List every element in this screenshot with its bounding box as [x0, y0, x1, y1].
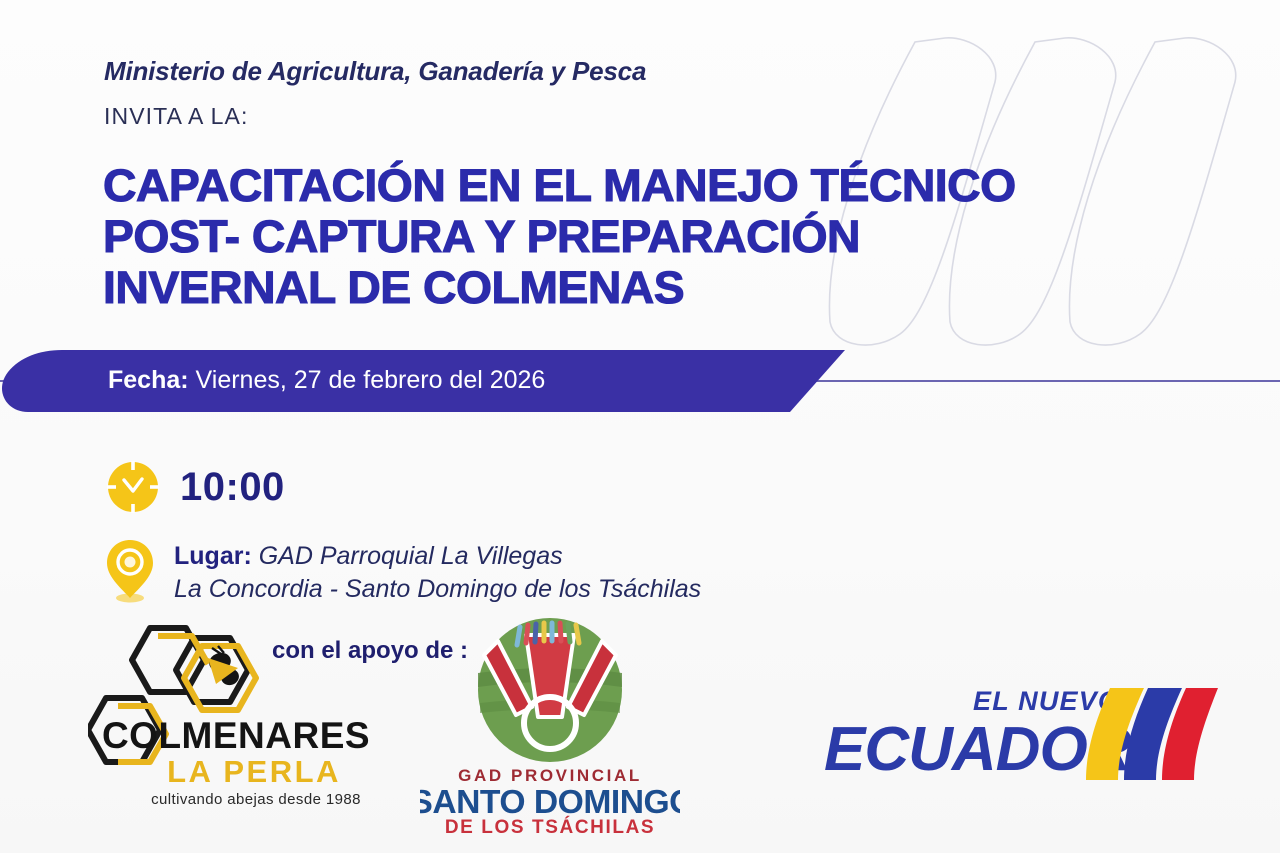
title-line-3: INVERNAL DE COLMENAS	[103, 262, 1195, 313]
page-title: CAPACITACIÓN EN EL MANEJO TÉCNICO POST- …	[103, 160, 1163, 313]
gad-line-1: GAD PROVINCIAL	[458, 766, 642, 785]
ministry-name: Ministerio de Agricultura, Ganadería y P…	[104, 56, 646, 87]
place-label: Lugar:	[174, 542, 252, 570]
place-line-1: Lugar: GAD Parroquial La Villegas	[174, 540, 701, 573]
gad-emblem	[478, 618, 622, 762]
gad-santo-domingo-logo: GAD PROVINCIAL SANTO DOMINGO DE LOS TSÁC…	[420, 615, 680, 837]
ecuador-line-2: ECUADOR	[824, 715, 1132, 784]
invitation-label: INVITA A LA:	[104, 103, 248, 130]
title-line-2: POST- CAPTURA Y PREPARACIÓN	[103, 211, 1195, 262]
ecuador-flag-slashes	[1086, 688, 1218, 780]
colmenares-la-perla-logo: COLMENARES LA PERLA cultivando abejas de…	[88, 620, 378, 832]
date-value: Viernes, 27 de febrero del 2026	[196, 366, 546, 394]
date-banner: Fecha: Viernes, 27 de febrero del 2026	[0, 350, 1280, 412]
colmenares-wordmark: COLMENARES	[102, 715, 370, 756]
la-perla-wordmark: LA PERLA	[167, 754, 341, 789]
clock-icon	[104, 458, 162, 516]
place-row: Lugar: GAD Parroquial La Villegas La Con…	[104, 536, 701, 606]
title-line-1: CAPACITACIÓN EN EL MANEJO TÉCNICO	[103, 160, 1195, 211]
place-lines: Lugar: GAD Parroquial La Villegas La Con…	[174, 536, 701, 606]
place-line-2: La Concordia - Santo Domingo de los Tsác…	[174, 573, 701, 606]
place-value: GAD Parroquial La Villegas	[259, 542, 563, 570]
gad-line-2: SANTO DOMINGO	[420, 784, 680, 821]
el-nuevo-ecuador-logo: EL NUEVO ECUADOR	[818, 668, 1218, 800]
colmenares-tagline: cultivando abejas desde 1988	[151, 791, 361, 808]
ecuador-line-1: EL NUEVO	[973, 686, 1120, 716]
date-label: Fecha:	[108, 366, 189, 394]
location-pin-icon	[104, 536, 156, 604]
event-flyer: Ministerio de Agricultura, Ganadería y P…	[0, 0, 1280, 853]
time-value: 10:00	[180, 465, 285, 510]
banner-text: Fecha: Viernes, 27 de febrero del 2026	[108, 366, 545, 395]
time-row: 10:00	[104, 458, 285, 516]
gad-line-3: DE LOS TSÁCHILAS	[445, 816, 655, 837]
